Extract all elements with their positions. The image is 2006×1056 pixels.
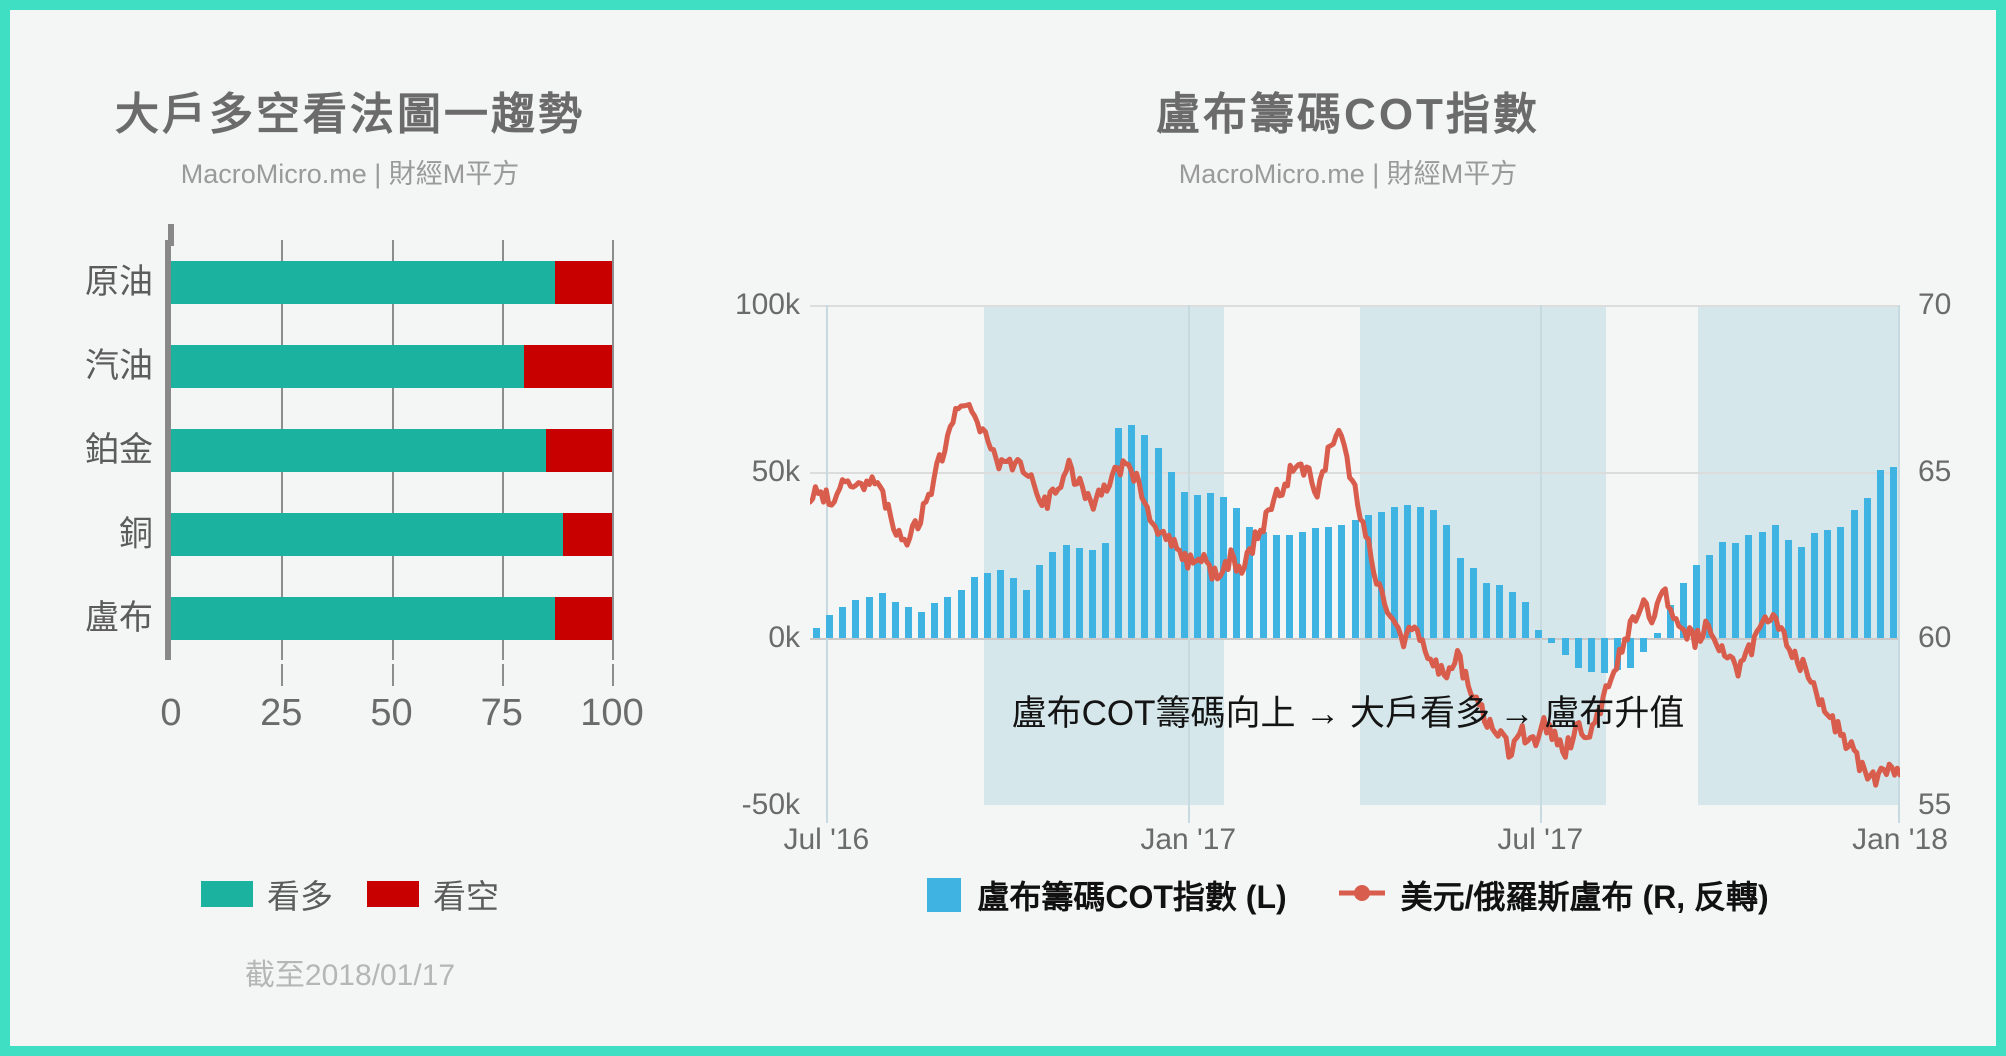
bar-row[interactable]: 銅 — [171, 513, 612, 556]
legend-linedot-usdrub-icon — [1339, 880, 1385, 911]
legend-item-bullish[interactable]: 看多 — [201, 870, 333, 918]
legend-label-bearish: 看空 — [433, 870, 499, 918]
left-chart-footnote: 截至2018/01/17 — [10, 950, 690, 994]
bar-segment-bearish — [555, 597, 612, 640]
x-axis-tick — [1188, 805, 1190, 823]
x-axis-tick-label: Jan '17 — [1140, 823, 1236, 857]
bar-segment-bearish — [524, 345, 612, 388]
bar-x-tick — [502, 664, 504, 686]
bar-x-tick-label: 100 — [580, 692, 643, 735]
left-chart-subtitle: MacroMicro.me | 財經M平方 — [10, 152, 690, 191]
left-axis-tick-label: -50k — [680, 788, 800, 822]
x-axis-tick — [1540, 805, 1542, 823]
bar-x-tick — [168, 224, 174, 246]
bar-x-tick-label: 25 — [260, 692, 302, 735]
bar-x-tick-label: 75 — [481, 692, 523, 735]
x-axis-tick-label: Jan '18 — [1852, 823, 1948, 857]
combo-chart: 100k50k0k-50k 55606570 Jul '16Jan '17Jul… — [690, 235, 2006, 825]
legend-item-bearish[interactable]: 看空 — [367, 870, 499, 918]
legend-swatch-bullish-icon — [201, 881, 253, 907]
right-chart-legend: 盧布籌碼COT指數 (L) 美元/俄羅斯盧布 (R, 反轉) — [690, 872, 2006, 918]
legend-label-cot-index: 盧布籌碼COT指數 (L) — [977, 872, 1286, 918]
legend-item-cot-index[interactable]: 盧布籌碼COT指數 (L) — [927, 872, 1286, 918]
bar-x-tick — [392, 664, 394, 686]
bar-segment-bearish — [563, 513, 612, 556]
right-chart-title: 盧布籌碼COT指數 — [690, 78, 2006, 142]
bar-category-label: 盧布 — [13, 597, 153, 640]
bar-row[interactable]: 鉑金 — [171, 429, 612, 472]
bar-segment-bullish — [171, 429, 546, 472]
legend-swatch-bearish-icon — [367, 881, 419, 907]
x-axis-tick-label: Jul '17 — [1497, 823, 1583, 857]
right-panel: 盧布籌碼COT指數 MacroMicro.me | 財經M平方 100k50k0… — [690, 10, 2006, 1046]
legend-label-usdrub: 美元/俄羅斯盧布 (R, 反轉) — [1401, 872, 1769, 918]
right-header: 盧布籌碼COT指數 MacroMicro.me | 財經M平方 — [690, 78, 2006, 191]
left-header: 大戶多空看法圖一趨勢 MacroMicro.me | 財經M平方 — [10, 78, 690, 191]
legend-swatch-cot-icon — [927, 878, 961, 912]
left-chart-legend: 看多 看空 — [10, 870, 690, 918]
bar-segment-bullish — [171, 261, 555, 304]
right-axis-tick-label: 55 — [1918, 788, 1951, 822]
horizontal-bar-chart: 原油汽油鉑金銅盧布 0255075100 — [165, 240, 625, 740]
right-axis-tick-label: 70 — [1918, 288, 1951, 322]
left-axis-tick-label: 50k — [680, 455, 800, 489]
x-axis-tick — [826, 805, 828, 823]
bar-row[interactable]: 汽油 — [171, 345, 612, 388]
x-axis-tick — [1898, 805, 1900, 823]
chart-annotation: 盧布COT籌碼向上 → 大戶看多 → 盧布升值 — [690, 685, 2006, 736]
bar-segment-bullish — [171, 513, 563, 556]
bar-gridline-100 — [612, 240, 614, 660]
legend-label-bullish: 看多 — [267, 870, 333, 918]
bar-x-tick — [281, 664, 283, 686]
legend-item-usdrub[interactable]: 美元/俄羅斯盧布 (R, 反轉) — [1339, 872, 1769, 918]
right-axis-tick-label: 60 — [1918, 621, 1951, 655]
bar-category-label: 鉑金 — [13, 429, 153, 472]
bar-row[interactable]: 盧布 — [171, 597, 612, 640]
right-chart-subtitle: MacroMicro.me | 財經M平方 — [690, 152, 2006, 191]
bar-category-label: 汽油 — [13, 345, 153, 388]
infographic-page: 大戶多空看法圖一趨勢 MacroMicro.me | 財經M平方 原油汽油鉑金銅… — [0, 0, 2006, 1056]
bar-category-label: 銅 — [13, 513, 153, 556]
left-panel: 大戶多空看法圖一趨勢 MacroMicro.me | 財經M平方 原油汽油鉑金銅… — [10, 10, 690, 1046]
bar-x-tick — [612, 664, 614, 686]
bar-x-tick-label: 50 — [370, 692, 412, 735]
x-axis-tick-label: Jul '16 — [783, 823, 869, 857]
bar-x-tick-label: 0 — [160, 692, 181, 735]
right-axis-tick-label: 65 — [1918, 455, 1951, 489]
bar-segment-bullish — [171, 345, 524, 388]
bar-row[interactable]: 原油 — [171, 261, 612, 304]
left-chart-title: 大戶多空看法圖一趨勢 — [10, 78, 690, 142]
left-axis-tick-label: 100k — [680, 288, 800, 322]
bar-segment-bullish — [171, 597, 555, 640]
bar-segment-bearish — [555, 261, 612, 304]
bar-segment-bearish — [546, 429, 612, 472]
left-axis-tick-label: 0k — [680, 621, 800, 655]
bar-category-label: 原油 — [13, 261, 153, 304]
